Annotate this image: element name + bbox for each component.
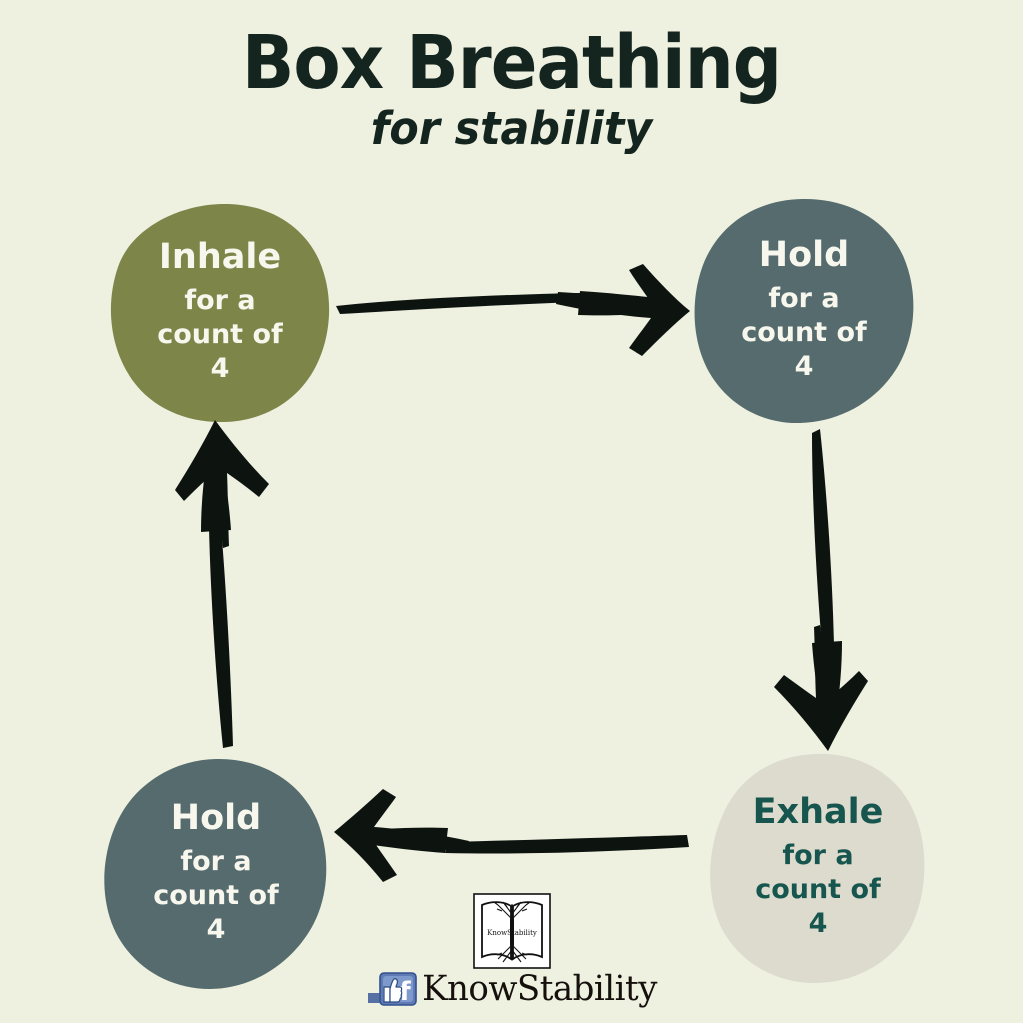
- exhale-line-1: for a: [717, 839, 919, 873]
- hold-bottom-line-1: for a: [110, 845, 322, 879]
- exhale-text: Exhale for a count of 4: [707, 795, 929, 940]
- exhale-count: 4: [717, 907, 919, 941]
- arrow-up-icon: [155, 418, 285, 753]
- exhale-line-2: count of: [717, 873, 919, 907]
- book-logo-text: KnowStability: [487, 929, 537, 937]
- hold-top-text: Hold for a count of 4: [690, 238, 918, 383]
- hold-bottom-count: 4: [110, 913, 322, 947]
- facebook-icon[interactable]: f: [366, 971, 418, 1007]
- inhale-line-1: for a: [114, 284, 326, 318]
- brand-name: KnowStability: [422, 972, 657, 1007]
- page-subtitle: for stability: [26, 105, 998, 152]
- hold-top-count: 4: [700, 350, 908, 384]
- hold-bottom-text: Hold for a count of 4: [100, 801, 332, 946]
- arrow-down-icon: [762, 425, 892, 755]
- arrow-right-icon: [330, 258, 695, 358]
- arrow-left-icon: [330, 785, 695, 890]
- node-inhale[interactable]: Inhale for a count of 4: [104, 202, 336, 424]
- title-block: Box Breathing for stability: [0, 26, 1023, 153]
- inhale-heading: Inhale: [114, 240, 326, 275]
- hold-bottom-heading: Hold: [110, 801, 322, 836]
- hold-top-line-2: count of: [700, 316, 908, 350]
- inhale-text: Inhale for a count of 4: [104, 240, 336, 385]
- node-hold-top[interactable]: Hold for a count of 4: [690, 198, 918, 424]
- infographic-canvas: Box Breathing for stability Inhale for a…: [0, 0, 1023, 1023]
- hold-top-line-1: for a: [700, 282, 908, 316]
- brand-wordmark-row[interactable]: f KnowStability: [366, 971, 657, 1007]
- hold-top-heading: Hold: [700, 238, 908, 273]
- inhale-line-2: count of: [114, 318, 326, 352]
- inhale-count: 4: [114, 352, 326, 386]
- hold-bottom-line-2: count of: [110, 879, 322, 913]
- page-title: Box Breathing: [36, 26, 987, 101]
- exhale-heading: Exhale: [717, 795, 919, 830]
- knowstability-book-logo-icon[interactable]: KnowStability: [473, 893, 551, 969]
